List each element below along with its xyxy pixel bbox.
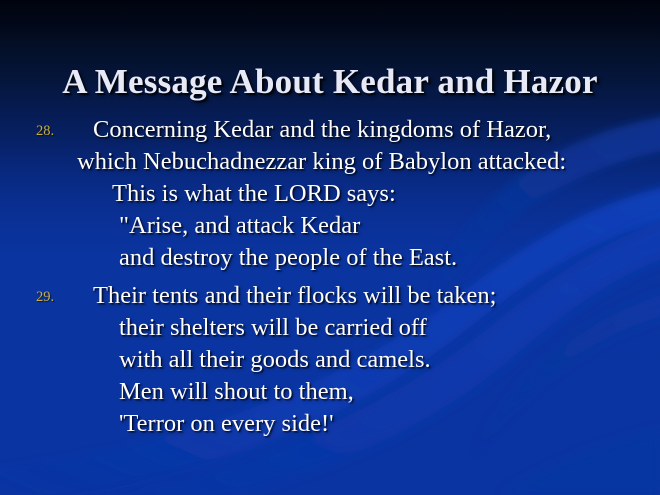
verse-line: This is what the LORD says: [0, 178, 660, 210]
slide-title: A Message About Kedar and Hazor [0, 64, 660, 101]
verse-line: "Arise, and attack Kedar [0, 210, 660, 242]
verse-text: their shelters will be carried off [119, 312, 427, 344]
verse-number: 28. [36, 114, 76, 148]
verse-text: with all their goods and camels. [119, 344, 431, 376]
verse-text: and destroy the people of the East. [119, 242, 457, 274]
verse-text: Their tents and their flocks will be tak… [93, 280, 496, 312]
verse-text: "Arise, and attack Kedar [119, 210, 360, 242]
verse-text: 'Terror on every side!' [119, 408, 334, 440]
verse-line: and destroy the people of the East. [0, 242, 660, 274]
verse-text: Concerning Kedar and the kingdoms of Haz… [93, 114, 551, 146]
verse-body: 28. Concerning Kedar and the kingdoms of… [0, 114, 660, 440]
verse-line: 29. Their tents and their flocks will be… [0, 280, 660, 312]
verse-text: which Nebuchadnezzar king of Babylon att… [77, 146, 566, 178]
verse-line: their shelters will be carried off [0, 312, 660, 344]
verse-text: Men will shout to them, [119, 376, 354, 408]
presentation-slide: A Message About Kedar and Hazor 28. Conc… [0, 0, 660, 495]
verse-line: Men will shout to them, [0, 376, 660, 408]
verse-line: 28. Concerning Kedar and the kingdoms of… [0, 114, 660, 146]
verse-line: which Nebuchadnezzar king of Babylon att… [0, 146, 660, 178]
verse-number: 29. [36, 280, 76, 314]
verse-text: This is what the LORD says: [112, 178, 396, 210]
verse-line: with all their goods and camels. [0, 344, 660, 376]
verse-line: 'Terror on every side!' [0, 408, 660, 440]
